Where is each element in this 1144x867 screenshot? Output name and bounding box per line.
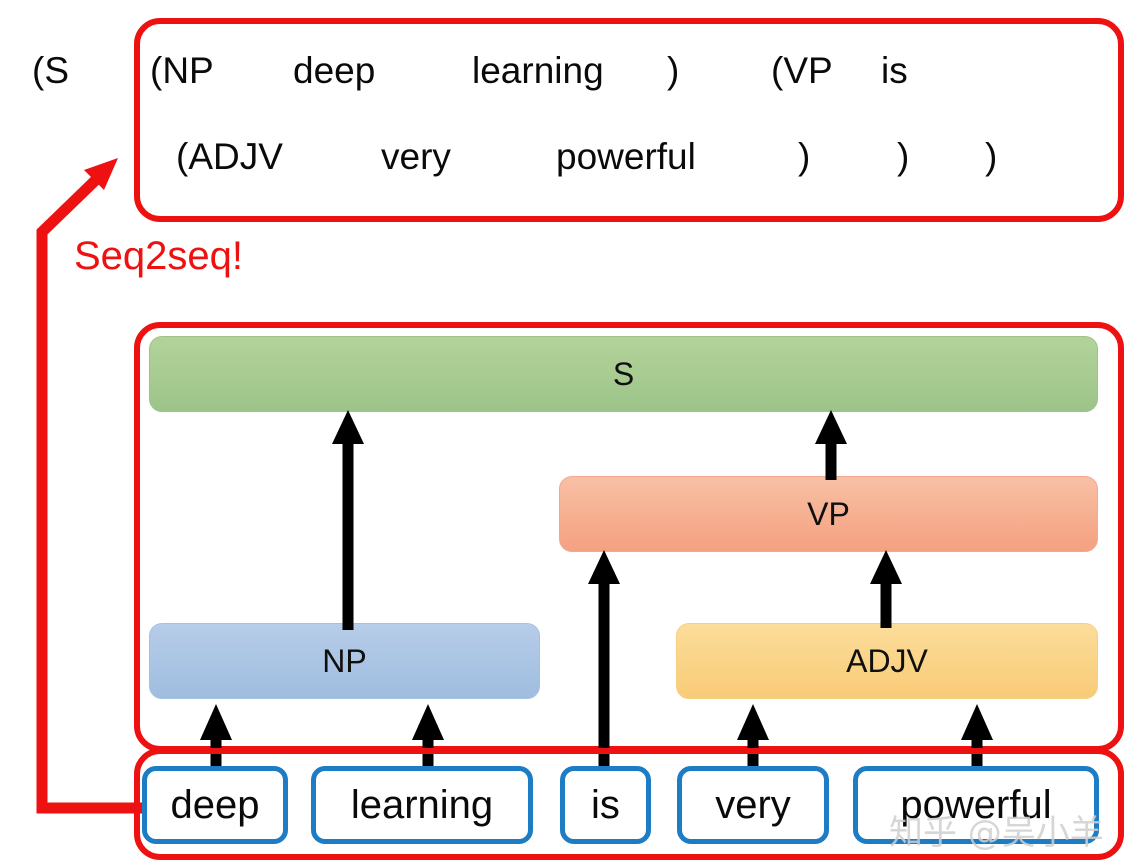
parse-token: (S <box>32 50 150 92</box>
linearized-parse-container <box>134 18 1124 222</box>
parse-token: very <box>381 136 556 178</box>
parse-token: learning <box>472 50 667 92</box>
tree-node-np[interactable]: NP <box>149 623 540 699</box>
word-token-very[interactable]: very <box>677 766 829 844</box>
tree-node-s[interactable]: S <box>149 336 1098 412</box>
tree-node-adjv[interactable]: ADJV <box>676 623 1098 699</box>
parse-token: (VP <box>771 50 881 92</box>
seq2seq-label: Seq2seq! <box>74 234 243 279</box>
parse-token: ) <box>798 136 897 178</box>
word-token-deep[interactable]: deep <box>142 766 288 844</box>
parse-token: powerful <box>556 136 798 178</box>
parse-token: ) <box>985 136 1055 178</box>
parse-token: (ADJV <box>176 136 381 178</box>
parse-token: deep <box>293 50 472 92</box>
tree-node-vp[interactable]: VP <box>559 476 1098 552</box>
word-token-is[interactable]: is <box>560 766 651 844</box>
parse-token: (NP <box>150 50 293 92</box>
watermark: 知乎 @吴小羊 <box>889 805 1104 854</box>
parse-token: is <box>881 50 961 92</box>
linearized-parse-row-1: (ADJV very powerful ) ) ) <box>0 136 1144 178</box>
word-token-learning[interactable]: learning <box>311 766 533 844</box>
parse-token: ) <box>667 50 771 92</box>
parse-token: ) <box>897 136 985 178</box>
linearized-parse-row-0: (S (NP deep learning ) (VP is <box>0 50 1144 92</box>
diagram-canvas: (S (NP deep learning ) (VP is (ADJV very… <box>0 0 1144 867</box>
